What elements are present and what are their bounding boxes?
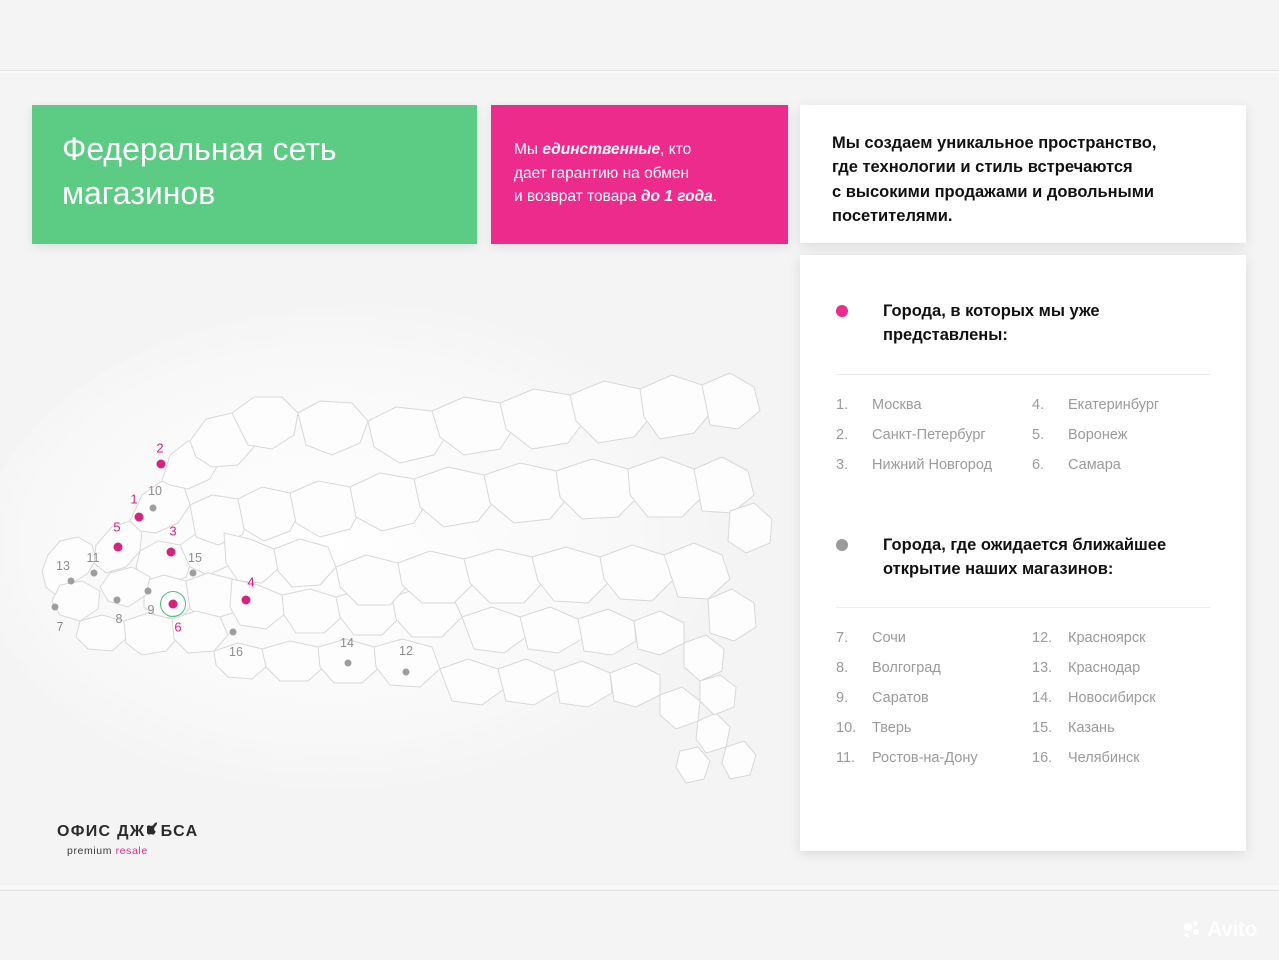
avito-wordmark: Avito [1207,918,1257,942]
intro-line-2: где технологии и стиль встречаются [832,155,1218,179]
city-name: Санкт-Петербург [872,427,986,443]
map-marker-dot-icon [169,600,178,609]
map-marker-dot-icon [150,505,157,512]
guarantee-emph-1: единственные [542,141,660,158]
map-marker-dot-icon [145,588,152,595]
map-marker-4[interactable] [242,596,251,605]
map-marker-dot-icon [135,513,144,522]
map-marker-3[interactable] [167,548,176,557]
map-marker-5[interactable] [114,543,123,552]
city-number: 13. [1032,660,1068,676]
bottom-divider-shade [0,885,1279,889]
brand-logo-part-1: ОФИС ДЖ [57,823,146,841]
city-row: 4.Екатеринбург [1032,397,1210,427]
bottom-divider [0,890,1279,891]
intro-card: Мы создаем уникальное пространство, где … [800,105,1246,243]
city-number: 1. [836,397,872,413]
map-marker-label-2: 2 [156,441,163,456]
guarantee-text-c: и возврат товара [514,188,641,205]
brand-logo-tagline: premium resale [67,845,237,857]
map-marker-dot-icon [91,570,98,577]
apple-icon-svg [147,822,160,837]
city-number: 6. [1032,457,1068,473]
map-marker-15[interactable] [190,570,197,577]
cities-card: Города, в которых мы уже представлены: 1… [800,255,1246,851]
map-marker-dot-icon [157,460,166,469]
bullet-dot-grey-icon [836,539,848,551]
map-marker-label-1: 1 [130,492,137,507]
city-number: 14. [1032,690,1068,706]
guarantee-text-b: , кто [660,141,691,158]
bullet-dot-pink-icon [836,305,848,317]
brand-logo-wordmark: ОФИС ДЖ БСА [57,822,237,841]
city-number: 11. [836,750,872,766]
city-number: 7. [836,630,872,646]
city-name: Ростов-на-Дону [872,750,978,766]
city-number: 16. [1032,750,1068,766]
slide-root: Федеральная сеть магазинов Мы единственн… [0,0,1279,960]
city-name: Самара [1068,457,1121,473]
section-upcoming-title: Города, где ожидается ближайшее открытие… [883,533,1166,582]
map-marker-dot-icon [190,570,197,577]
map-marker-dot-icon [167,548,176,557]
brand-tagline-premium: premium [67,845,112,857]
map-marker-label-16: 16 [229,645,243,659]
guarantee-line-1: Мы единственные, кто [514,138,766,162]
city-row: 5.Воронеж [1032,427,1210,457]
avito-dots-icon [1184,921,1203,940]
map-marker-8[interactable] [114,597,121,604]
city-row: 7.Сочи [836,630,1014,660]
city-number: 2. [836,427,872,443]
city-name: Сочи [872,630,906,646]
city-number: 15. [1032,720,1068,736]
map-marker-label-11: 11 [87,551,100,565]
map-marker-dot-icon [52,604,59,611]
guarantee-emph-2: до 1 года [641,188,713,205]
cities-present-list: 1.Москва4.Екатеринбург2.Санкт-Петербург5… [836,397,1210,487]
map-marker-dot-icon [230,629,237,636]
map-marker-1[interactable] [135,513,144,522]
map-marker-label-8: 8 [116,612,123,626]
city-name: Екатеринбург [1068,397,1159,413]
map-marker-label-15: 15 [188,551,202,565]
city-row: 14.Новосибирск [1032,690,1210,720]
map-marker-label-4: 4 [247,575,254,590]
section-present-title-l2: представлены: [883,323,1100,347]
city-number: 4. [1032,397,1068,413]
map-marker-label-7: 7 [57,620,64,634]
russia-map: 12345678910111213141516 [0,255,790,875]
map-marker-dot-icon [68,578,75,585]
map-marker-dot-icon [114,597,121,604]
map-marker-dot-icon [345,660,352,667]
intro-line-4: посетителями. [832,204,1218,228]
city-name: Казань [1068,720,1115,736]
map-marker-label-5: 5 [113,520,120,535]
city-row: 11.Ростов-на-Дону [836,750,1014,780]
map-marker-label-3: 3 [169,524,176,539]
map-marker-dot-icon [242,596,251,605]
city-row: 12.Красноярск [1032,630,1210,660]
map-marker-label-9: 9 [148,603,155,617]
russia-map-svg [0,255,790,875]
map-marker-label-10: 10 [148,484,162,498]
map-marker-6[interactable] [169,600,178,609]
map-marker-2[interactable] [157,460,166,469]
map-marker-13[interactable] [68,578,75,585]
map-marker-16[interactable] [230,629,237,636]
city-row: 13.Краснодар [1032,660,1210,690]
city-row: 3.Нижний Новгород [836,457,1014,487]
city-number: 9. [836,690,872,706]
city-row: 1.Москва [836,397,1014,427]
city-row: 10.Тверь [836,720,1014,750]
divider-present [836,374,1210,375]
city-number: 3. [836,457,872,473]
intro-line-3: с высокими продажами и довольными [832,180,1218,204]
headline-line-1: Федеральная сеть [62,127,447,171]
avito-watermark: Avito [1184,918,1257,942]
top-divider-shade [0,71,1279,73]
guarantee-text-a: Мы [514,141,542,158]
city-row: 15.Казань [1032,720,1210,750]
intro-line-1: Мы создаем уникальное пространство, [832,131,1218,155]
section-spacer [836,487,1210,533]
city-row: 2.Санкт-Петербург [836,427,1014,457]
apple-icon [147,822,160,841]
city-name: Саратов [872,690,929,706]
map-marker-7[interactable] [52,604,59,611]
divider-upcoming [836,607,1210,608]
map-marker-14[interactable] [345,660,352,667]
guarantee-banner-pink: Мы единственные, кто дает гарантию на об… [491,105,788,244]
map-marker-10[interactable] [150,505,157,512]
city-row: 6.Самара [1032,457,1210,487]
map-marker-9[interactable] [145,588,152,595]
section-upcoming-header: Города, где ожидается ближайшее открытие… [836,533,1210,582]
section-present-header: Города, в которых мы уже представлены: [836,299,1210,348]
brand-logo: ОФИС ДЖ БСА premium resale [57,822,237,857]
guarantee-line-3: и возврат товара до 1 года. [514,185,766,209]
city-name: Челябинск [1068,750,1140,766]
brand-tagline-resale: resale [116,845,148,857]
guarantee-text-d: . [713,188,717,205]
city-name: Москва [872,397,922,413]
headline-line-2: магазинов [62,171,447,215]
city-number: 5. [1032,427,1068,443]
map-marker-label-6: 6 [174,620,181,635]
map-marker-12[interactable] [403,669,410,676]
city-row: 16.Челябинск [1032,750,1210,780]
city-row: 8.Волгоград [836,660,1014,690]
map-marker-label-13: 13 [56,559,70,573]
city-name: Краснодар [1068,660,1140,676]
guarantee-line-2: дает гарантию на обмен [514,162,766,186]
map-marker-label-12: 12 [399,644,413,658]
city-number: 12. [1032,630,1068,646]
brand-logo-part-2: БСА [161,823,199,841]
section-upcoming-title-l2: открытие наших магазинов: [883,557,1166,581]
city-name: Новосибирск [1068,690,1156,706]
headline-banner-green: Федеральная сеть магазинов [32,105,477,244]
map-marker-11[interactable] [91,570,98,577]
city-row: 9.Саратов [836,690,1014,720]
city-name: Тверь [872,720,911,736]
section-upcoming-title-l1: Города, где ожидается ближайшее [883,533,1166,557]
city-name: Волгоград [872,660,941,676]
cities-upcoming-list: 7.Сочи12.Красноярск8.Волгоград13.Краснод… [836,630,1210,780]
section-present-title-l1: Города, в которых мы уже [883,299,1100,323]
city-number: 10. [836,720,872,736]
map-marker-label-14: 14 [340,636,354,650]
city-name: Нижний Новгород [872,457,992,473]
city-number: 8. [836,660,872,676]
map-marker-dot-icon [403,669,410,676]
city-name: Воронеж [1068,427,1127,443]
city-name: Красноярск [1068,630,1145,646]
map-marker-dot-icon [114,543,123,552]
section-present-title: Города, в которых мы уже представлены: [883,299,1100,348]
